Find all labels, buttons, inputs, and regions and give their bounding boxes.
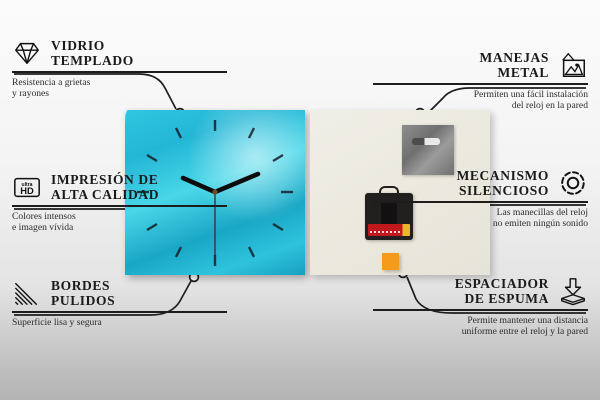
callout-desc-line2: no emiten ningún sonido	[373, 218, 588, 230]
foam-spacer-icon	[558, 276, 588, 306]
polished-edge-icon	[12, 278, 42, 308]
callout-espaciador-espuma: ESPACIADOR DE ESPUMA Permite mantener un…	[373, 276, 588, 338]
callout-desc-line2: uniforme entre el reloj y la pared	[373, 326, 588, 338]
callout-desc-line2: e imagen vívida	[12, 222, 227, 234]
callout-rule	[373, 309, 588, 311]
callout-desc-line2: y rayones	[12, 88, 227, 100]
callout-rule	[12, 311, 227, 313]
callout-rule	[373, 201, 588, 203]
diamond-icon	[12, 38, 42, 68]
callout-desc-line1: Las manecillas del reloj	[373, 207, 588, 219]
callout-header: BORDES PULIDOS	[12, 278, 227, 308]
callout-title: VIDRIO TEMPLADO	[51, 38, 134, 68]
callout-rule	[12, 71, 227, 73]
callout-header: MECANISMO SILENCIOSO	[373, 168, 588, 198]
callout-header: MANEJAS METAL	[373, 50, 588, 80]
callout-desc-line1: Resistencia a grietas	[12, 77, 227, 89]
infographic-canvas: VIDRIO TEMPLADO Resistencia a grietas y …	[0, 0, 600, 400]
callout-manejas-metal: MANEJAS METAL Permiten una fácil instala…	[373, 50, 588, 112]
callout-bordes-pulidos: BORDES PULIDOS Superficie lisa y segura	[12, 278, 227, 328]
callout-title: MECANISMO SILENCIOSO	[457, 168, 549, 198]
gear-icon	[558, 168, 588, 198]
battery-label	[370, 231, 400, 233]
callout-desc-line1: Permite mantener una distancia	[373, 315, 588, 327]
picture-hanger-icon	[558, 50, 588, 80]
callout-rule	[373, 83, 588, 85]
callout-desc-line1: Permiten una fácil instalación	[373, 89, 588, 101]
callout-title: BORDES PULIDOS	[51, 278, 115, 308]
callout-title: MANEJAS METAL	[480, 50, 549, 80]
callout-header: ultra HD IMPRESIÓN DE ALTA CALIDAD	[12, 172, 227, 202]
callout-desc-line1: Superficie lisa y segura	[12, 317, 227, 329]
hanger-slot	[412, 138, 440, 145]
foam-spacer-pad	[382, 253, 399, 270]
callout-header: ESPACIADOR DE ESPUMA	[373, 276, 588, 306]
callout-mecanismo-silencioso: MECANISMO SILENCIOSO Las manecillas del …	[373, 168, 588, 230]
callout-vidrio-templado: VIDRIO TEMPLADO Resistencia a grietas y …	[12, 38, 227, 100]
svg-text:HD: HD	[20, 186, 34, 196]
callout-desc-line1: Colores intensos	[12, 211, 227, 223]
ultra-hd-icon: ultra HD	[12, 172, 42, 202]
callout-desc-line2: del reloj en la pared	[373, 100, 588, 112]
callout-title: IMPRESIÓN DE ALTA CALIDAD	[51, 172, 159, 202]
callout-title: ESPACIADOR DE ESPUMA	[455, 276, 549, 306]
callout-impresion-alta-calidad: ultra HD IMPRESIÓN DE ALTA CALIDAD Color…	[12, 172, 227, 234]
callout-rule	[12, 205, 227, 207]
callout-header: VIDRIO TEMPLADO	[12, 38, 227, 68]
